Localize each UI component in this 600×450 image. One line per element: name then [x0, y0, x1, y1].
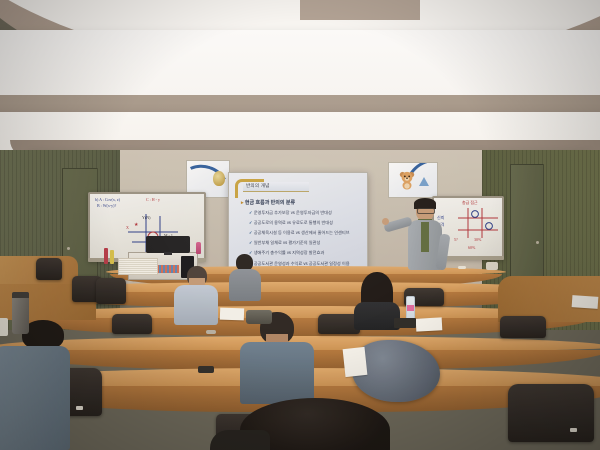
camera-bag [246, 310, 272, 324]
attendee-center-rear [228, 254, 262, 302]
attendee-shoulder [210, 430, 270, 450]
whiteboard-note: 60% [468, 246, 475, 251]
chair-row2-a[interactable] [112, 314, 152, 334]
notebook-under-jacket [343, 347, 368, 377]
paper-far-right [572, 295, 599, 309]
attendee-shirt [229, 269, 261, 301]
presenter-speaker [398, 200, 458, 288]
presenter-shirt-vee [421, 222, 429, 252]
podium-monitor[interactable] [146, 236, 190, 253]
white-cup [0, 318, 8, 336]
whiteboard-note: C : H - y [146, 198, 160, 203]
chair-row4-right[interactable] [508, 384, 594, 442]
chair-inventory-label [76, 406, 83, 410]
grey-travel-tumbler [12, 292, 29, 334]
pen-on-desk [206, 330, 216, 334]
handout-sheet[interactable] [220, 308, 244, 321]
lecture-hall-photo: b) A : Cov(x, z) B : W(x-y)? C : H - y Y… [0, 0, 600, 450]
slide-bullet-text: 일반부채 일체료 vs 평가기준의 일관성 [254, 240, 321, 245]
slide-heading: ▸ 현금 흐름과 반의의 분류 [241, 199, 295, 206]
whiteboard-note: B : W(x-y)? [97, 204, 116, 209]
yellow-folder [110, 250, 114, 264]
desk-paper-right [486, 262, 498, 270]
glasses-icon [417, 208, 435, 214]
slide-bullet: ✓ 공공체육시설 등 이용료 vs 생산에서 줄어드는 인센티브 [249, 230, 350, 236]
door-knob-icon [536, 241, 539, 244]
red-folder [104, 248, 108, 264]
triangle-logo-icon [419, 177, 429, 186]
tablet-device[interactable] [394, 318, 416, 328]
attendee-shirt [174, 285, 218, 325]
chair-row2-far-right[interactable] [500, 316, 546, 338]
slide-bullet: ✓ 일반부채 일체료 vs 평가기준의 일관성 [249, 240, 320, 246]
slide-heading-text: 현금 흐름과 반의의 분류 [245, 200, 295, 206]
bottle-label [407, 305, 414, 311]
phone-on-desk[interactable] [198, 366, 214, 373]
bear-mascot-icon [398, 170, 416, 190]
presenter-hand [382, 218, 389, 225]
slide-bullet-text: 공공도로의 용역료 vs 유료도로 통행의 반대성 [254, 220, 333, 225]
slide-bullet-text: 생애주기 총수익률 vs 지역성장 발전효과 [254, 250, 324, 255]
tumbler-lid [12, 292, 29, 298]
attendee-shirt [0, 346, 70, 450]
ceiling-access-panel [300, 0, 420, 20]
slide-bullet: ✓ 운영투자금 추가보장 vs 운영투자금의 반대성 [249, 210, 332, 216]
chair-inventory-label [570, 428, 577, 432]
attendee-front-left [172, 266, 220, 326]
slide-title: 반의의 개념 [246, 183, 270, 189]
slide-bullet: ✓ 공공도로의 용역료 vs 유료도로 통행의 반대성 [249, 220, 333, 226]
handout-stack[interactable] [118, 258, 158, 275]
emblem-crest-icon [213, 171, 225, 186]
monitor-stand [164, 252, 172, 255]
water-bottle[interactable] [406, 296, 415, 320]
pink-bottle [196, 242, 201, 254]
open-notebook[interactable] [416, 317, 443, 331]
slide-bullet-text: 공공체육시설 등 이용료 vs 생산에서 줄어드는 인센티브 [254, 230, 350, 235]
whiteboard-diagram-right [456, 206, 500, 240]
door-knob-icon [67, 247, 70, 250]
bear-mascot-banner [388, 162, 438, 198]
marker-pen [458, 266, 466, 269]
attendee-foreground-left [0, 326, 74, 450]
svg-text:★: ★ [134, 222, 139, 228]
slide-bullet-text: 운영투자금 추가보장 vs 운영투자금의 반대성 [254, 210, 332, 215]
chair-row1-c[interactable] [96, 278, 126, 304]
chair-row1-a[interactable] [36, 258, 62, 280]
